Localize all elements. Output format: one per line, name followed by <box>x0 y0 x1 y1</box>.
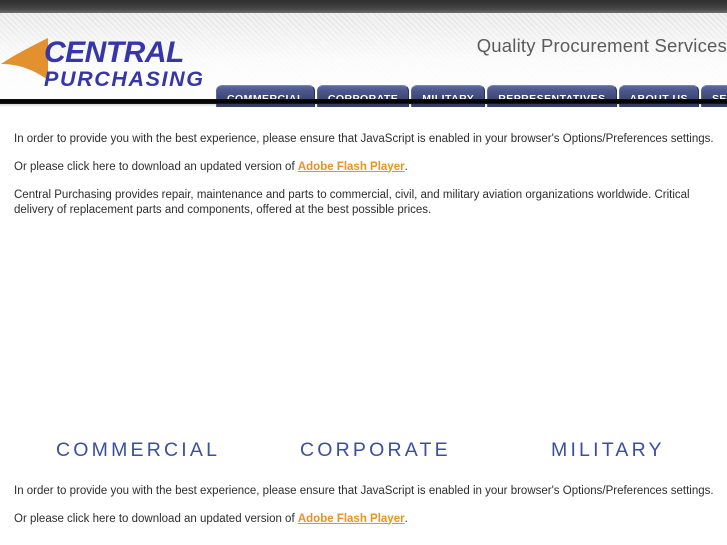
javascript-notice-bottom: In order to provide you with the best ex… <box>14 484 714 499</box>
flash-notice-bottom: Or please click here to download an upda… <box>14 512 714 527</box>
adobe-flash-player-link-bottom[interactable]: Adobe Flash Player <box>298 513 405 525</box>
site-tagline: Quality Procurement Services <box>477 35 727 57</box>
page-root: CENTRAL PURCHASING Quality Procurement S… <box>0 0 727 545</box>
logo-text-central: CENTRAL <box>44 38 205 68</box>
adobe-flash-player-link-top[interactable]: Adobe Flash Player <box>298 161 405 173</box>
flash-notice-bottom-suffix: . <box>405 513 408 525</box>
logo-text-purchasing: PURCHASING <box>44 69 205 91</box>
category-heading-commercial[interactable]: COMMERCIAL <box>56 439 220 462</box>
category-heading-military[interactable]: MILITARY <box>551 439 665 462</box>
flash-notice-top-suffix: . <box>405 161 408 173</box>
javascript-notice-top: In order to provide you with the best ex… <box>14 132 714 147</box>
site-header: CENTRAL PURCHASING Quality Procurement S… <box>0 13 727 99</box>
category-heading-corporate[interactable]: CORPORATE <box>300 439 451 462</box>
top-decorative-strip <box>0 0 727 13</box>
flash-notice-top: Or please click here to download an upda… <box>14 160 714 175</box>
site-logo[interactable]: CENTRAL PURCHASING <box>0 23 200 85</box>
about-paragraph: Central Purchasing provides repair, main… <box>14 188 706 218</box>
flash-notice-top-prefix: Or please click here to download an upda… <box>14 161 298 173</box>
category-headings: COMMERCIAL CORPORATE MILITARY <box>0 439 727 467</box>
flash-notice-bottom-prefix: Or please click here to download an upda… <box>14 513 298 525</box>
main-content: In order to provide you with the best ex… <box>0 107 727 545</box>
